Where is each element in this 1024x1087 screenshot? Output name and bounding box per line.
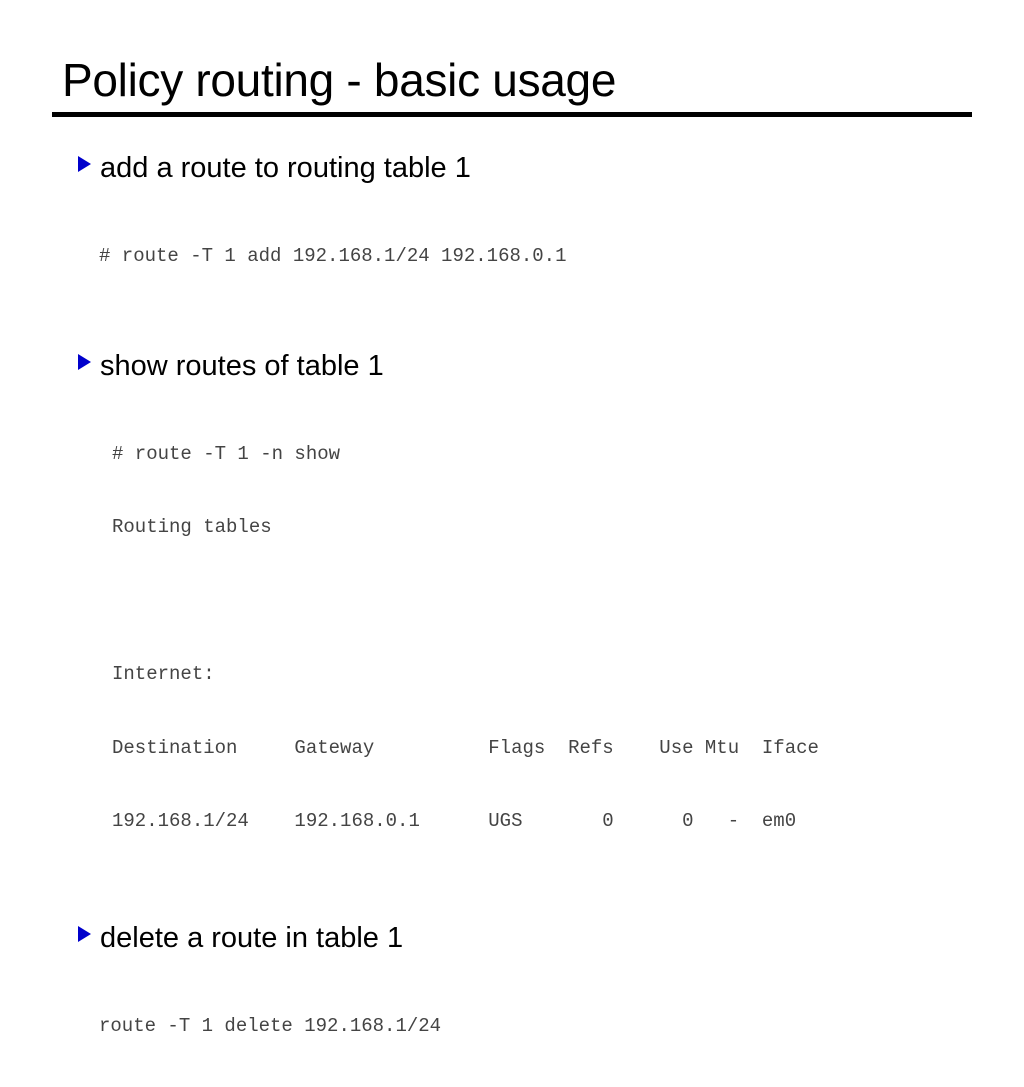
bullet-item-label: add a route to routing table 1 (100, 150, 471, 186)
bullet-item: add a route to routing table 1 (0, 150, 1024, 186)
bullet-item-label: show routes of table 1 (100, 348, 384, 384)
code-line-command: # route -T 1 -n show (112, 442, 1024, 467)
code-block-add: # route -T 1 add 192.168.1/24 192.168.0.… (0, 195, 1024, 318)
spacer (0, 186, 1024, 195)
title-divider (52, 112, 972, 117)
triangle-bullet-icon (78, 354, 91, 370)
triangle-bullet-icon (78, 926, 91, 942)
page-title: Policy routing - basic usage (62, 54, 616, 106)
spacer (0, 883, 1024, 920)
code-line-routing-tables: Routing tables (112, 515, 1024, 540)
bullet-item: delete a route in table 1 (0, 920, 1024, 956)
code-line: route -T 1 delete 192.168.1/24 (99, 1014, 1024, 1039)
slide-body: add a route to routing table 1 # route -… (0, 150, 1024, 1087)
spacer (0, 956, 1024, 965)
bullet-section-show: show routes of table 1 # route -T 1 -n s… (0, 348, 1024, 883)
code-block-delete: route -T 1 delete 192.168.1/24 (0, 965, 1024, 1087)
spacer (0, 384, 1024, 393)
code-line-internet-caption: Internet: (112, 662, 1024, 687)
code-blank-line (112, 589, 1024, 614)
route-table-row: 192.168.1/24 192.168.0.1 UGS 0 0 - em0 (112, 809, 1024, 834)
code-line: # route -T 1 add 192.168.1/24 192.168.0.… (99, 244, 1024, 269)
spacer (0, 318, 1024, 348)
bullet-section-add: add a route to routing table 1 # route -… (0, 150, 1024, 318)
route-table-header-row: Destination Gateway Flags Refs Use Mtu I… (112, 736, 1024, 761)
bullet-item-label: delete a route in table 1 (100, 920, 403, 956)
bullet-section-delete: delete a route in table 1 route -T 1 del… (0, 920, 1024, 1087)
triangle-bullet-icon (78, 156, 91, 172)
slide: Policy routing - basic usage add a route… (0, 0, 1024, 768)
code-block-show: # route -T 1 -n show Routing tables Inte… (0, 393, 1024, 883)
bullet-item: show routes of table 1 (0, 348, 1024, 384)
